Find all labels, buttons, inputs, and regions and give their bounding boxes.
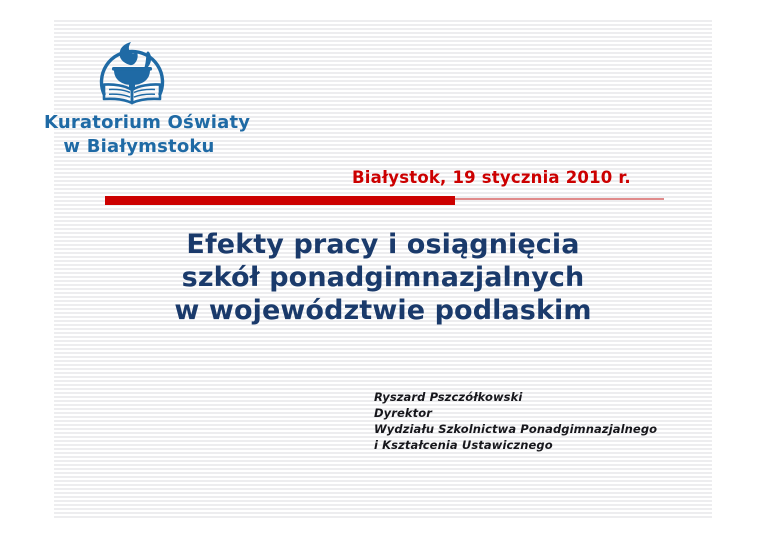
divider-rule-thick xyxy=(105,196,455,205)
author-department-line-2: i Kształcenia Ustawicznego xyxy=(374,437,657,453)
slide-title-line-2: szkół ponadgimnazjalnych xyxy=(54,261,712,294)
presentation-slide: Kuratorium Oświaty w Białymstoku Białyst… xyxy=(0,0,768,543)
divider-rule-thin xyxy=(455,198,664,200)
kuratorium-emblem-icon xyxy=(86,20,178,112)
logo-text-line-1: Kuratorium Oświaty xyxy=(44,112,234,133)
author-role: Dyrektor xyxy=(374,405,657,421)
author-name: Ryszard Pszczółkowski xyxy=(374,389,657,405)
author-credit-block: Ryszard Pszczółkowski Dyrektor Wydziału … xyxy=(374,389,657,453)
slide-title-line-1: Efekty pracy i osiągnięcia xyxy=(54,228,712,261)
author-department-line-1: Wydziału Szkolnictwa Ponadgimnazjalnego xyxy=(374,421,657,437)
slide-title-line-3: w województwie podlaskim xyxy=(54,294,712,327)
slide-title: Efekty pracy i osiągnięcia szkół ponadgi… xyxy=(54,228,712,327)
slide-date-text: Białystok, 19 stycznia 2010 r. xyxy=(352,168,631,187)
organization-logo: Kuratorium Oświaty w Białymstoku xyxy=(44,20,234,160)
logo-text-line-2: w Białymstoku xyxy=(44,136,234,157)
